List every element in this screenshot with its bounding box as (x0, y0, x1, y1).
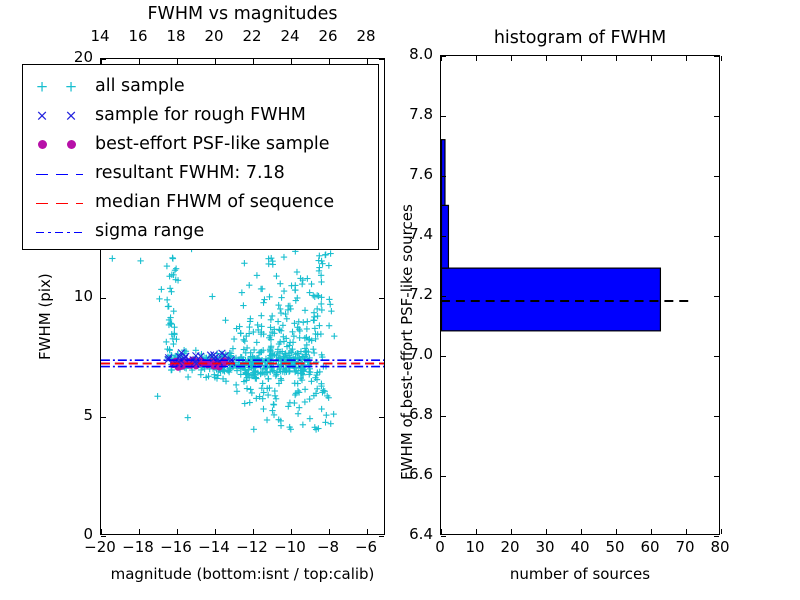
hist-x-tick-mark-top (616, 56, 617, 61)
legend-item-label: resultant FWHM: 7.18 (95, 165, 285, 183)
y-tick-mark (101, 417, 106, 418)
legend-item[interactable]: median FHWM of sequence (23, 187, 378, 218)
hist-y-tick-mark-right (714, 176, 719, 177)
hist-x-tick-mark-top (581, 56, 582, 61)
x-tick-mark (101, 529, 102, 534)
figure-canvas: FWHM vs magnitudes 1416182022242628 −20−… (0, 0, 800, 600)
scatter-reference-lines (101, 360, 384, 366)
hist-x-tick-mark (721, 529, 722, 534)
legend-item[interactable]: resultant FWHM: 7.18 (23, 158, 378, 189)
circle-icon (67, 140, 76, 149)
hist-x-tick-mark (616, 529, 617, 534)
hist-x-tick-mark (651, 529, 652, 534)
x-icon: × (65, 108, 78, 123)
legend-marker-plus-marker: ++ (23, 71, 95, 102)
x-tick-mark (177, 529, 178, 534)
hist-y-tick-label: 8.0 (378, 47, 433, 62)
left-y-tick-label: 20 (38, 50, 93, 65)
hist-x-tick-mark-top (686, 56, 687, 61)
left-y-tick-label: 0 (38, 527, 93, 542)
legend-marker-circle-marker (23, 129, 95, 160)
hist-y-tick-mark-right (714, 416, 719, 417)
hist-y-tick-mark (441, 416, 446, 417)
hist-x-tick-mark (511, 529, 512, 534)
hist-y-tick-label: 6.4 (378, 527, 433, 542)
hist-x-tick-mark-top (476, 56, 477, 61)
hist-y-tick-mark (441, 176, 446, 177)
x-tick-mark (291, 529, 292, 534)
legend-item-label: sigma range (95, 223, 204, 241)
left-plot-title: FWHM vs magnitudes (100, 4, 385, 24)
legend-item-label: median FHWM of sequence (95, 194, 334, 212)
histogram-bars-group (441, 140, 660, 331)
legend-item-label: all sample (95, 78, 185, 96)
hist-x-tick-mark (476, 529, 477, 534)
left-x-axis-label: magnitude (bottom:isnt / top:calib) (100, 565, 385, 583)
dashdot-line-icon (36, 232, 83, 234)
legend-marker-dashdot-line (23, 216, 95, 247)
hist-x-tick-mark (581, 529, 582, 534)
legend-item[interactable]: ××sample for rough FWHM (23, 100, 378, 131)
hist-x-tick-mark-top (546, 56, 547, 61)
hist-y-tick-mark-right (714, 236, 719, 237)
hist-y-tick-mark (441, 236, 446, 237)
x-tick-mark (215, 529, 216, 534)
plus-icon: + (36, 79, 49, 94)
hist-y-tick-mark-right (714, 356, 719, 357)
legend-item[interactable]: ++all sample (23, 71, 378, 102)
hist-y-tick-mark (441, 296, 446, 297)
top-axis-tick-label: 28 (344, 29, 388, 44)
hist-x-tick-label: 80 (698, 540, 742, 555)
hist-x-tick-mark-top (651, 56, 652, 61)
y-tick-mark (101, 298, 106, 299)
legend-marker-dashed-line (23, 158, 95, 189)
x-tick-mark (253, 529, 254, 534)
circle-icon (38, 140, 47, 149)
right-plot-title: histogram of FWHM (440, 28, 720, 48)
dashed-line-icon (36, 174, 83, 176)
legend-marker-x-marker: ×× (23, 100, 95, 131)
hist-y-tick-mark (441, 476, 446, 477)
hist-y-tick-label: 7.8 (378, 107, 433, 122)
right-y-axis-label: FWHM of best-effort PSF-like sources (398, 204, 416, 480)
legend-item-label: sample for rough FWHM (95, 107, 306, 125)
hist-y-tick-mark (441, 56, 446, 57)
chart-legend: ++all sample××sample for rough FWHMbest-… (22, 64, 379, 250)
y-tick-mark (101, 59, 106, 60)
dashed-line-icon (36, 203, 83, 205)
hist-y-tick-mark (441, 356, 446, 357)
hist-x-tick-mark (546, 529, 547, 534)
hist-y-tick-label: 7.6 (378, 167, 433, 182)
legend-item[interactable]: sigma range (23, 216, 378, 247)
hist-y-tick-mark-right (714, 56, 719, 57)
left-y-axis-label: FWHM (pix) (36, 273, 54, 360)
histogram-data-layer (441, 56, 719, 534)
hist-y-tick-mark (441, 116, 446, 117)
hist-x-tick-mark-top (511, 56, 512, 61)
left-y-tick-label: 5 (38, 408, 93, 423)
hist-x-tick-mark-top (721, 56, 722, 61)
right-x-axis-label: number of sources (440, 565, 720, 583)
legend-item[interactable]: best-effort PSF-like sample (23, 129, 378, 160)
bottom-axis-tick-label: −6 (342, 540, 390, 555)
x-tick-mark (367, 529, 368, 534)
legend-item-label: best-effort PSF-like sample (95, 136, 330, 154)
histogram-of-fwhm-axes (440, 55, 720, 535)
hist-x-tick-mark (441, 529, 442, 534)
hist-x-tick-mark (686, 529, 687, 534)
hist-y-tick-mark-right (714, 116, 719, 117)
hist-y-tick-mark-right (714, 296, 719, 297)
plus-icon: + (65, 79, 78, 94)
x-tick-mark (139, 529, 140, 534)
hist-y-tick-mark-right (714, 476, 719, 477)
x-tick-mark (329, 529, 330, 534)
x-icon: × (36, 108, 49, 123)
legend-marker-dashed-line (23, 187, 95, 218)
